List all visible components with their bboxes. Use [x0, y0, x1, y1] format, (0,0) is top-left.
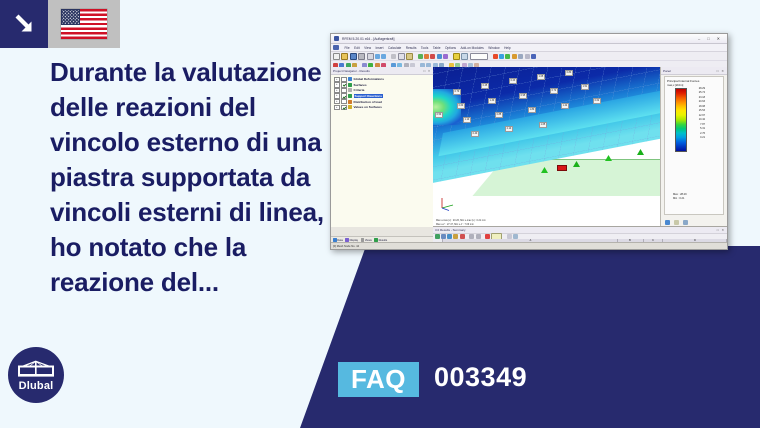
- result-value-label: 0.95: [519, 93, 527, 99]
- toolbar-icon-copy[interactable]: [398, 53, 405, 60]
- surface-icon: [348, 83, 352, 87]
- faq-number: 003349: [434, 364, 527, 391]
- legend-value: 0.21: [687, 136, 705, 140]
- menu-item-tools[interactable]: Tools: [421, 46, 428, 50]
- toolbar-icon-print[interactable]: [358, 53, 365, 60]
- us-flag-icon: [61, 9, 107, 39]
- legend-max-value: 28.29: [680, 193, 687, 196]
- nav-item-label: Support Reactions: [354, 94, 384, 98]
- legend-value-list: 28.29 25.74 23.18 20.63 18.08 15.53 12.9…: [687, 87, 705, 140]
- deformation-icon: [348, 77, 352, 81]
- nav-item-values-on-surfaces[interactable]: + Values on Surfaces: [334, 104, 433, 110]
- title-bar: RFEM 5.20.01 x64 - [Auflagerkraft] – □ ✕: [331, 34, 727, 44]
- nav-item-label: Distribution of load: [354, 100, 382, 104]
- toolbar-icon-wireframe[interactable]: [461, 53, 468, 60]
- result-value-label: 0.60: [457, 103, 465, 109]
- results-table-title: 3.0 Results - Summary: [435, 228, 466, 232]
- result-value-label: 0.70: [453, 89, 461, 95]
- toolbar-icon-zoom-in[interactable]: [424, 54, 429, 59]
- toolbar-icon-zoom-all[interactable]: [437, 54, 442, 59]
- legend-panel-buttons-row[interactable]: [665, 220, 688, 225]
- result-value-label: 1.10: [463, 117, 471, 123]
- navigator-tree[interactable]: + Global Deformations + Surfaces +: [331, 75, 433, 110]
- result-value-label: 1.51: [581, 84, 589, 90]
- results-table-panel-buttons[interactable]: □ ✕: [717, 228, 727, 232]
- line-support-symbol: [637, 149, 644, 155]
- support-icon: [348, 94, 352, 98]
- result-value-label: 0.62: [593, 98, 601, 104]
- navigator-panel-buttons[interactable]: □ ×: [423, 69, 433, 73]
- legend-min-label: Min :: [673, 197, 679, 200]
- toolbar-icon-preview[interactable]: [367, 53, 374, 60]
- result-value-label: 0.80: [565, 70, 573, 76]
- result-value-label: 1.42: [561, 103, 569, 109]
- legend-min-max: Max : 28.29 Min : 0.21: [673, 193, 687, 201]
- result-value-label: 1.80: [528, 107, 536, 113]
- menu-bar[interactable]: File Edit View Insert Calculate Results …: [331, 44, 727, 52]
- toolbar-loadcase-select[interactable]: [470, 53, 488, 60]
- menu-item-options[interactable]: Options: [445, 46, 456, 50]
- nav-item-label: Surfaces: [354, 83, 367, 87]
- results-legend-panel: Panel □ ✕ Principal Internal Forces max,…: [660, 67, 727, 227]
- checkbox-icon[interactable]: [341, 105, 347, 111]
- legend-max-label: Max :: [673, 193, 679, 196]
- result-value-label: 0.23: [509, 78, 517, 84]
- menu-item-results[interactable]: Results: [406, 46, 417, 50]
- menu-item-table[interactable]: Table: [433, 46, 441, 50]
- result-value-label: 1.30: [488, 98, 496, 104]
- toolbar-icon-printout[interactable]: [518, 54, 523, 59]
- selected-node-marker[interactable]: [557, 165, 567, 171]
- load-icon: [348, 100, 352, 104]
- legend-factor-button-icon[interactable]: [674, 220, 679, 225]
- expand-icon[interactable]: +: [334, 105, 340, 111]
- project-navigator: Project Navigator - Results □ × + Global…: [331, 67, 434, 227]
- menu-item-file[interactable]: File: [345, 46, 350, 50]
- menu-item-window[interactable]: Window: [488, 46, 499, 50]
- close-icon[interactable]: ✕: [717, 37, 720, 41]
- faq-badge: FAQ: [338, 362, 419, 397]
- minimize-icon[interactable]: –: [698, 37, 700, 41]
- dlubal-logo-text: Dlubal: [8, 380, 64, 392]
- maximize-icon[interactable]: □: [707, 37, 709, 41]
- status-bar-text: [0] Mesh Node No. 44: [333, 245, 359, 248]
- window-controls[interactable]: – □ ✕: [698, 37, 724, 41]
- color-scale-bar: [675, 88, 687, 152]
- menu-item-view[interactable]: View: [364, 46, 371, 50]
- toolbar-icon-sections[interactable]: [512, 54, 517, 59]
- toolbar-icon-help[interactable]: [531, 54, 536, 59]
- language-flag-box[interactable]: [48, 0, 120, 48]
- toolbar-icon-save[interactable]: [350, 53, 357, 60]
- nav-item-label: Values on Surfaces: [354, 105, 382, 109]
- coordinate-axes-icon: [439, 197, 455, 211]
- legend-min-value: 0.21: [679, 197, 684, 200]
- legend-panel-title-bar: Panel □ ✕: [661, 67, 727, 75]
- toolbar-primary[interactable]: [331, 52, 727, 61]
- work-area: Project Navigator - Results □ × + Global…: [331, 67, 727, 249]
- toolbar-separator-2: [414, 54, 416, 59]
- toolbar-icon-redo[interactable]: [381, 54, 386, 59]
- arrow-badge: [0, 0, 48, 48]
- values-icon: [348, 105, 352, 109]
- menu-item-addon-modules[interactable]: Add-on Modules: [461, 46, 484, 50]
- toolbar-separator-3: [450, 54, 452, 59]
- result-value-label: 0.72: [550, 88, 558, 94]
- menu-item-edit[interactable]: Edit: [354, 46, 360, 50]
- status-bar: [0] Mesh Node No. 44: [331, 242, 727, 249]
- result-value-label: 1.65: [539, 122, 547, 128]
- toolbar-icon-settings[interactable]: [525, 54, 530, 59]
- nav-item-label: Criteria: [354, 88, 365, 92]
- toolbar-icon-zoom-window[interactable]: [418, 54, 423, 59]
- toolbar-icon-undo[interactable]: [375, 54, 380, 59]
- navigator-title: Project Navigator - Results: [333, 69, 370, 73]
- toolbar-icon-open[interactable]: [341, 53, 348, 60]
- toolbar-icon-render[interactable]: [453, 53, 460, 60]
- legend-panel-buttons[interactable]: □ ✕: [717, 69, 727, 73]
- result-value-label: 2.10: [505, 126, 513, 132]
- toolbar-icon-calculate[interactable]: [493, 54, 498, 59]
- checkbox-icon[interactable]: [341, 93, 347, 99]
- menu-item-insert[interactable]: Insert: [376, 46, 384, 50]
- line-support-symbol: [605, 155, 612, 161]
- rfem-application-window: RFEM 5.20.01 x64 - [Auflagerkraft] – □ ✕…: [330, 33, 728, 250]
- toolbar-separator-1: [388, 54, 390, 59]
- legend-panel-title: Panel: [663, 69, 671, 73]
- toolbar-icon-rotate[interactable]: [443, 54, 448, 59]
- legend-filter-button-icon[interactable]: [683, 220, 688, 225]
- dlubal-logo: Dlubal: [8, 347, 64, 403]
- toolbar-icon-paste[interactable]: [406, 53, 413, 60]
- menu-item-help[interactable]: Help: [504, 46, 511, 50]
- result-value-label: 0.45: [481, 83, 489, 89]
- arrow-down-right-icon: [11, 11, 37, 37]
- window-title: RFEM 5.20.01 x64 - [Auflagerkraft]: [342, 37, 394, 41]
- legend-body: Principal Internal Forces max,x [kN/m] 2…: [664, 76, 724, 215]
- viewport-info: Max u-max |x| : 20.26, Min u-max |x| : 0…: [436, 219, 486, 226]
- criteria-icon: [348, 88, 352, 92]
- result-value-label: 0.40: [471, 131, 479, 137]
- menu-item-calculate[interactable]: Calculate: [388, 46, 401, 50]
- app-icon: [334, 36, 339, 41]
- result-value-label: 0.85: [495, 112, 503, 118]
- toolbar-separator-4: [489, 54, 491, 59]
- nav-item-label: Global Deformations: [354, 77, 384, 81]
- result-value-label: 1.05: [537, 74, 545, 80]
- toolbar-icon-zoom-out[interactable]: [430, 54, 435, 59]
- page-title: Durante la valutazione delle reazioni de…: [50, 55, 325, 300]
- menu-app-button[interactable]: [333, 45, 339, 50]
- checkbox-icon[interactable]: [341, 82, 347, 88]
- toolbar-icon-results[interactable]: [499, 54, 504, 59]
- result-value-label: 0.50: [435, 112, 443, 118]
- legend-color-button-icon[interactable]: [665, 220, 670, 225]
- toolbar-icon-deformation[interactable]: [505, 54, 510, 59]
- model-viewport[interactable]: 0.70 0.45 0.23 1.05 0.80 0.60 1.30 0.95 …: [433, 67, 661, 227]
- banner-canvas: Durante la valutazione delle reazioni de…: [0, 0, 760, 428]
- toolbar-icon-new[interactable]: [333, 53, 340, 60]
- dlubal-bridge-icon: [17, 359, 55, 381]
- navigator-title-bar: Project Navigator - Results □ ×: [331, 67, 433, 75]
- toolbar-icon-cut[interactable]: [391, 54, 396, 59]
